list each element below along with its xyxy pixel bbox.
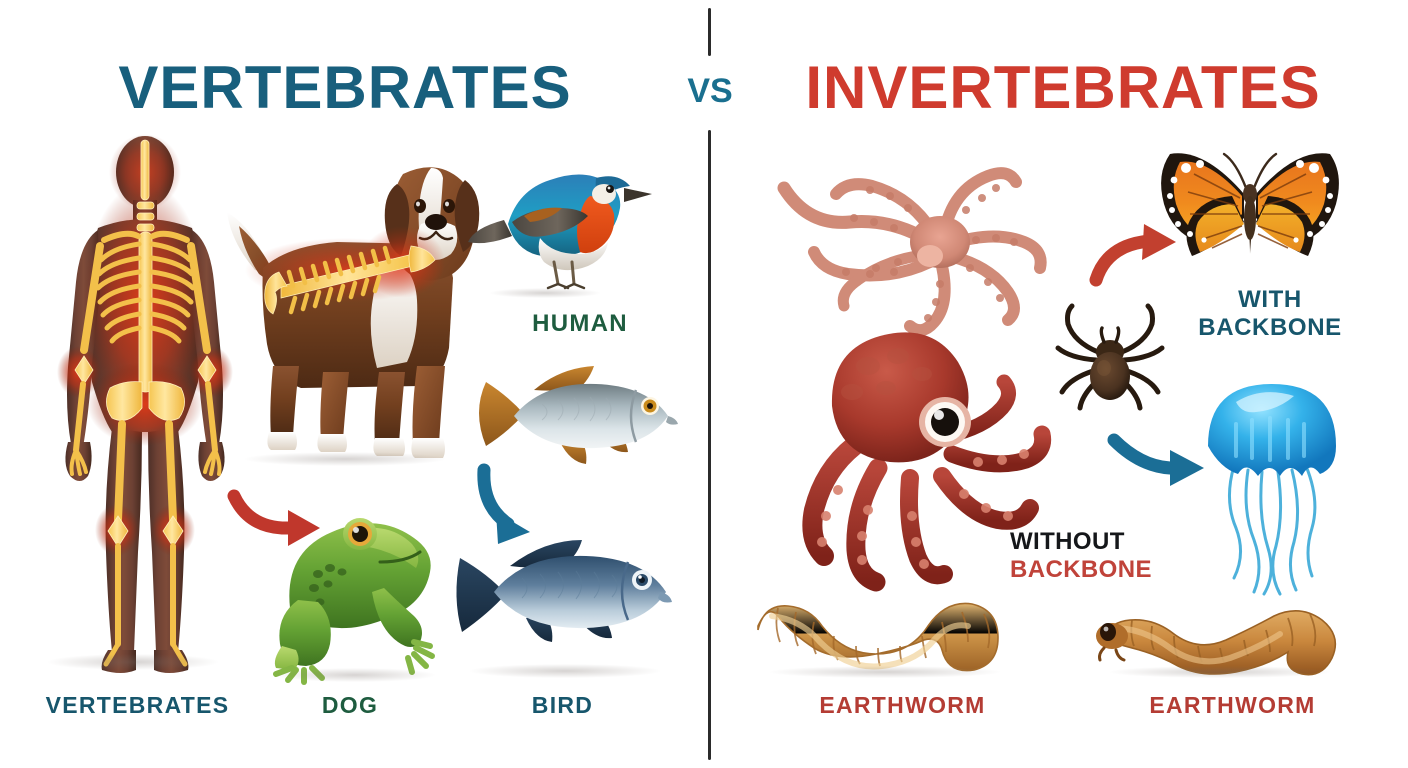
bird-figure-shadow: [490, 288, 600, 298]
label-dog: DOG: [250, 694, 450, 717]
without-backbone-line-1: WITHOUT: [1010, 528, 1210, 556]
label-vertebrates: VERTEBRATES: [0, 694, 275, 717]
frog-figure: [268, 496, 448, 678]
human-figure-shadow: [48, 654, 218, 670]
page-title-vertebrates: VERTEBRATES: [0, 58, 690, 118]
label-earthworm-right: EARTHWORM: [1070, 694, 1395, 717]
label-earthworm-left: EARTHWORM: [740, 694, 1065, 717]
butterfly-figure: [1150, 140, 1350, 280]
frog-figure-shadow: [275, 668, 435, 682]
label-with-backbone: WITH BACKBONE: [1155, 286, 1385, 341]
jellyfish-figure: [1192, 372, 1352, 622]
earthworm-left-shadow: [770, 666, 1000, 678]
fish-orange-fin-figure: [472, 360, 682, 470]
octopus-pale-figure: [738, 146, 1058, 336]
page-title-invertebrates: INVERTEBRATES: [718, 58, 1408, 118]
infographic-canvas: VERTEBRATES VS INVERTEBRATES: [0, 0, 1408, 768]
with-backbone-line-2: BACKBONE: [1198, 314, 1341, 341]
dog-figure: [215, 150, 480, 490]
spider-figure: [1044, 300, 1176, 410]
vertical-divider-bottom: [708, 130, 711, 760]
with-backbone-line-1: WITH: [1238, 286, 1302, 313]
fish-blue-figure-shadow: [470, 664, 660, 678]
without-backbone-line-2: BACKBONE: [1010, 556, 1210, 584]
label-human: HUMAN: [480, 312, 680, 336]
bird-figure: [468, 158, 658, 293]
dog-figure-shadow: [245, 452, 445, 466]
vertical-divider-top: [708, 8, 711, 56]
label-without-backbone: WITHOUT BACKBONE: [1010, 528, 1210, 583]
earthworm-right-shadow: [1110, 666, 1330, 678]
fish-blue-figure: [452, 530, 672, 665]
label-bird: BIRD: [460, 694, 665, 717]
earthworm-left-figure: [748, 588, 1013, 678]
